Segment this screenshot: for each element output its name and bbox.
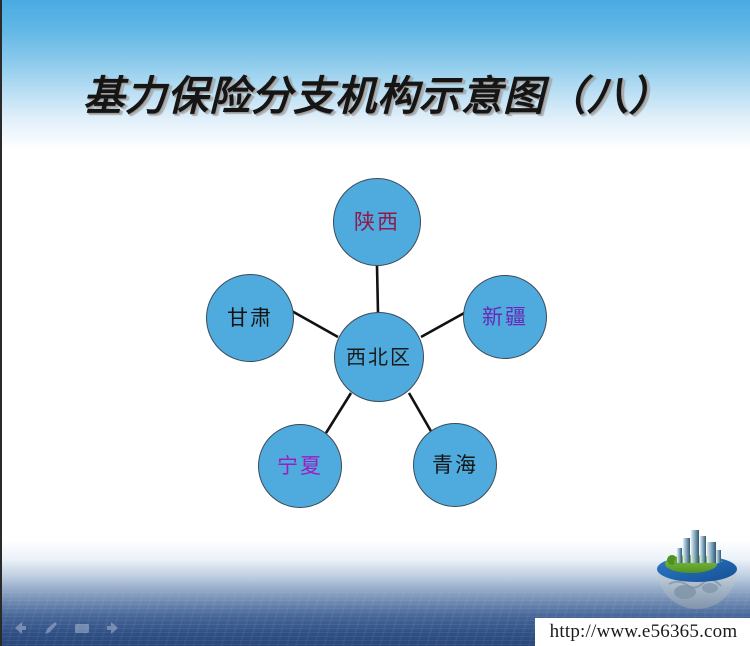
watermark-url-box: http://www.e56365.com (535, 618, 750, 646)
node-ningxia-label: 宁夏 (277, 456, 323, 477)
previous-slide-icon[interactable] (10, 619, 30, 637)
next-slide-icon[interactable] (103, 619, 123, 637)
node-qinghai[interactable]: 青海 (413, 423, 497, 507)
node-center-label: 西北区 (346, 347, 412, 367)
eco-globe-city-logo (647, 520, 747, 620)
node-ningxia[interactable]: 宁夏 (258, 424, 342, 508)
slideshow-nav-bar[interactable] (10, 616, 128, 640)
node-xinjiang-label: 新疆 (482, 307, 528, 328)
slide-menu-icon[interactable] (72, 619, 92, 637)
watermark-url-text: http://www.e56365.com (550, 621, 738, 643)
node-qinghai-label: 青海 (432, 455, 478, 476)
node-shaanxi-label: 陕西 (354, 212, 400, 233)
node-gansu[interactable]: 甘肃 (206, 274, 294, 362)
node-center-northwest-region[interactable]: 西北区 (334, 312, 424, 402)
org-chart-diagram: 陕西 甘肃 新疆 西北区 宁夏 青海 (2, 0, 750, 646)
presentation-slide: 基力保险分支机构示意图（八） 陕西 甘肃 新疆 西北区 宁夏 青海 (0, 0, 750, 646)
node-xinjiang[interactable]: 新疆 (463, 275, 547, 359)
node-gansu-label: 甘肃 (227, 308, 273, 329)
node-shaanxi[interactable]: 陕西 (333, 178, 421, 266)
pen-tool-icon[interactable] (41, 619, 61, 637)
